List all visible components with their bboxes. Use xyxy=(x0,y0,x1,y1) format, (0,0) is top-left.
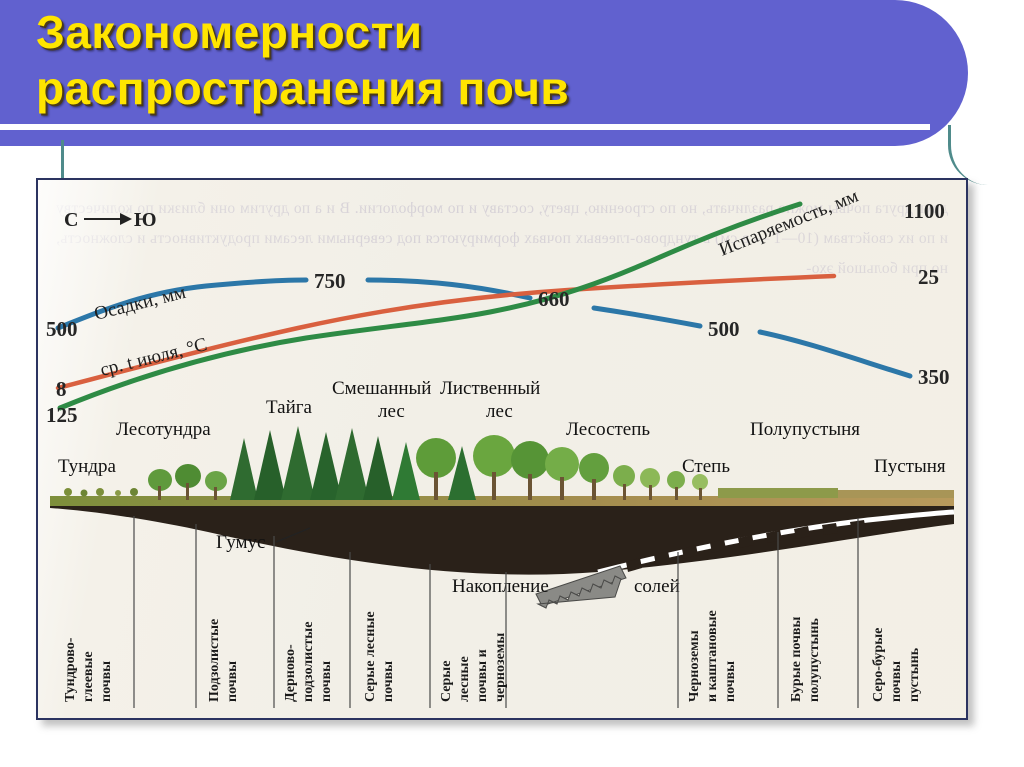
connector-line-right xyxy=(948,125,992,185)
compass-indicator: С Ю xyxy=(64,209,157,231)
diagram-figure: друг друга почвы можно различать, но по … xyxy=(36,178,968,720)
taiga-conifers xyxy=(230,426,393,500)
salt-label-left: Накопление xyxy=(452,576,549,597)
soil-label-line: глеевые xyxy=(81,651,96,702)
soil-label-line: Подзолистые xyxy=(207,619,222,702)
curve-precipitation-tail xyxy=(594,308,700,326)
soil-type-sod-podzolic: Дерново- подзолистые почвы xyxy=(283,622,334,702)
zone-label-semidesert: Полупустыня xyxy=(750,419,860,440)
soil-type-grey-brown-desert: Серо-бурые почвы пустынь xyxy=(871,628,922,702)
zone-label-broadleaf-2: лес xyxy=(486,401,513,422)
precip-mid-value: 660 xyxy=(538,287,570,311)
title-banner: Закономерности распространения почв xyxy=(0,0,968,146)
zone-label-forest-steppe: Лесостепь xyxy=(566,419,650,440)
series-name-precipitation: Осадки, мм xyxy=(92,282,188,325)
precip-peak-value: 750 xyxy=(314,269,346,293)
soil-type-chernozem-chestnut: Черноземы и каштановые почвы xyxy=(687,610,738,702)
soil-label-line: почвы xyxy=(319,661,334,702)
title-underline xyxy=(0,124,930,130)
evap-start-value: 125 xyxy=(46,403,78,427)
soil-label-line: Черноземы xyxy=(687,630,702,702)
soil-label-line: черноземы xyxy=(493,633,508,702)
soil-type-labels: Тундрово- глеевые почвы Подзолистые почв… xyxy=(63,610,922,702)
soil-label-line: лесные xyxy=(457,656,472,702)
zone-label-desert: Пустыня xyxy=(874,456,946,477)
salt-label-right: солей xyxy=(634,576,680,597)
soil-label-line: пустынь xyxy=(907,647,922,702)
soil-label-line: подзолистые xyxy=(301,622,316,702)
soil-label-line: Серые лесные xyxy=(363,611,378,702)
soil-label-line: полупустынь xyxy=(807,618,822,702)
zone-label-tundra: Тундра xyxy=(58,456,116,477)
humus-layer xyxy=(50,506,954,575)
soil-label-line: почвы и xyxy=(475,649,490,702)
curve-precipitation-end xyxy=(760,332,910,376)
soil-label-line: почвы xyxy=(723,661,738,702)
soil-label-line: Дерново- xyxy=(283,644,298,702)
soil-distribution-diagram: С Ю 500 750 660 500 350 8 25 125 1100 Ос… xyxy=(38,180,966,718)
forest-tundra-trees xyxy=(148,464,227,500)
precip-end-value: 350 xyxy=(918,365,950,389)
soil-type-brown-semidesert: Бурые почвы полупустынь xyxy=(789,617,822,702)
temp-start-value: 8 xyxy=(56,377,67,401)
soil-label-line: Серо-бурые xyxy=(871,628,886,702)
soil-label-line: Тундрово- xyxy=(63,637,78,702)
soil-label-line: почвы xyxy=(225,661,240,702)
compass-north: С xyxy=(64,209,78,231)
page-title: Закономерности распространения почв xyxy=(36,4,936,116)
zone-label-mixed-forest: Смешанный xyxy=(332,378,431,399)
steppe-grass xyxy=(718,488,954,498)
zone-label-broadleaf: Лиственный xyxy=(440,378,540,399)
temp-end-value: 25 xyxy=(918,265,939,289)
zone-label-taiga: Тайга xyxy=(266,397,313,418)
soil-type-tundra-gley: Тундрово- глеевые почвы xyxy=(63,637,114,702)
zone-label-mixed-forest-2: лес xyxy=(378,401,405,422)
soil-label-line: почвы xyxy=(381,661,396,702)
zone-label-forest-tundra: Лесотундра xyxy=(116,419,211,440)
mixed-forest-trees xyxy=(392,435,549,500)
soil-label-line: почвы xyxy=(99,661,114,702)
precip-start-value: 500 xyxy=(46,317,78,341)
soil-label-line: Бурые почвы xyxy=(789,617,804,702)
zone-label-steppe: Степь xyxy=(682,456,730,477)
tundra-shrubs xyxy=(64,488,138,497)
precip-late-value: 500 xyxy=(708,317,740,341)
soil-type-podzolic: Подзолистые почвы xyxy=(207,619,240,702)
soil-label-line: и каштановые xyxy=(705,610,720,702)
compass-south: Ю xyxy=(134,209,157,231)
soil-label-line: почвы xyxy=(889,661,904,702)
humus-label: Гумус xyxy=(216,532,265,553)
broadleaf-forest-trees xyxy=(545,447,609,500)
connector-line-left xyxy=(61,140,64,180)
evap-end-value: 1100 xyxy=(904,199,945,223)
soil-label-line: Серые xyxy=(439,661,454,702)
soil-type-grey-forest-chernozem: Серые лесные почвы и черноземы xyxy=(439,633,508,702)
soil-type-grey-forest: Серые лесные почвы xyxy=(363,611,396,702)
